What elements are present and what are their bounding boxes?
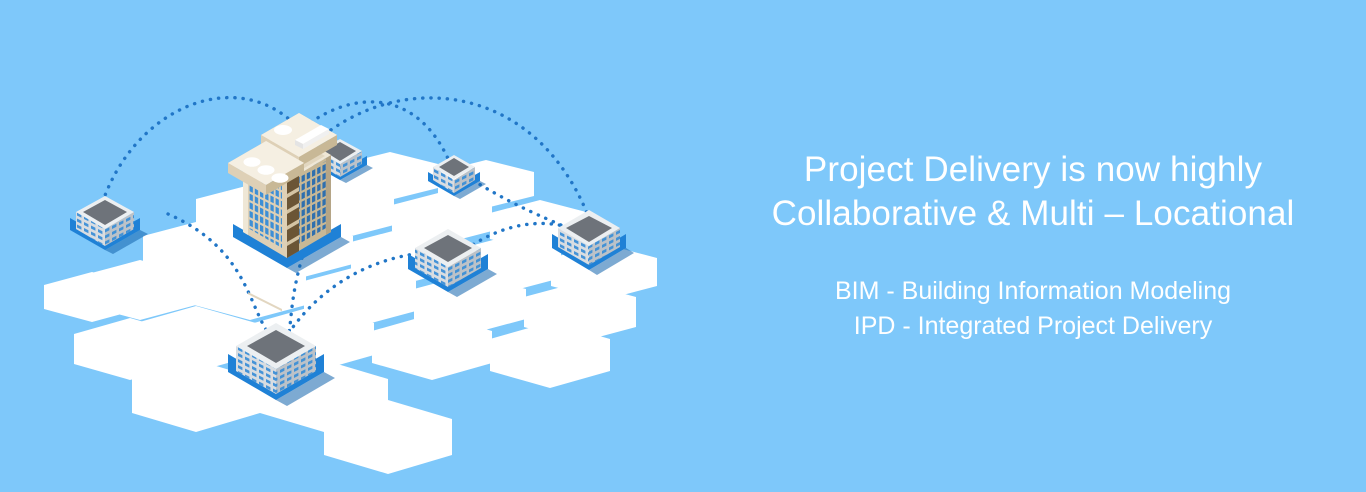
building-west (70, 196, 148, 254)
subtitle-line-bim: BIM - Building Information Modeling (835, 274, 1231, 309)
headline-line-2: Collaborative & Multi – Locational (772, 192, 1295, 236)
headline-line-1: Project Delivery is now highly (772, 148, 1295, 192)
illustration-isometric-city (0, 0, 700, 492)
isometric-city-svg (0, 0, 700, 492)
subtitle-block: BIM - Building Information Modeling IPD … (835, 274, 1231, 344)
page-title: Project Delivery is now highly Collabora… (772, 148, 1295, 236)
subtitle-line-ipd: IPD - Integrated Project Delivery (835, 309, 1231, 344)
banner: Project Delivery is now highly Collabora… (0, 0, 1366, 492)
hex-tile-field (84, 152, 657, 474)
text-block: Project Delivery is now highly Collabora… (700, 0, 1366, 492)
